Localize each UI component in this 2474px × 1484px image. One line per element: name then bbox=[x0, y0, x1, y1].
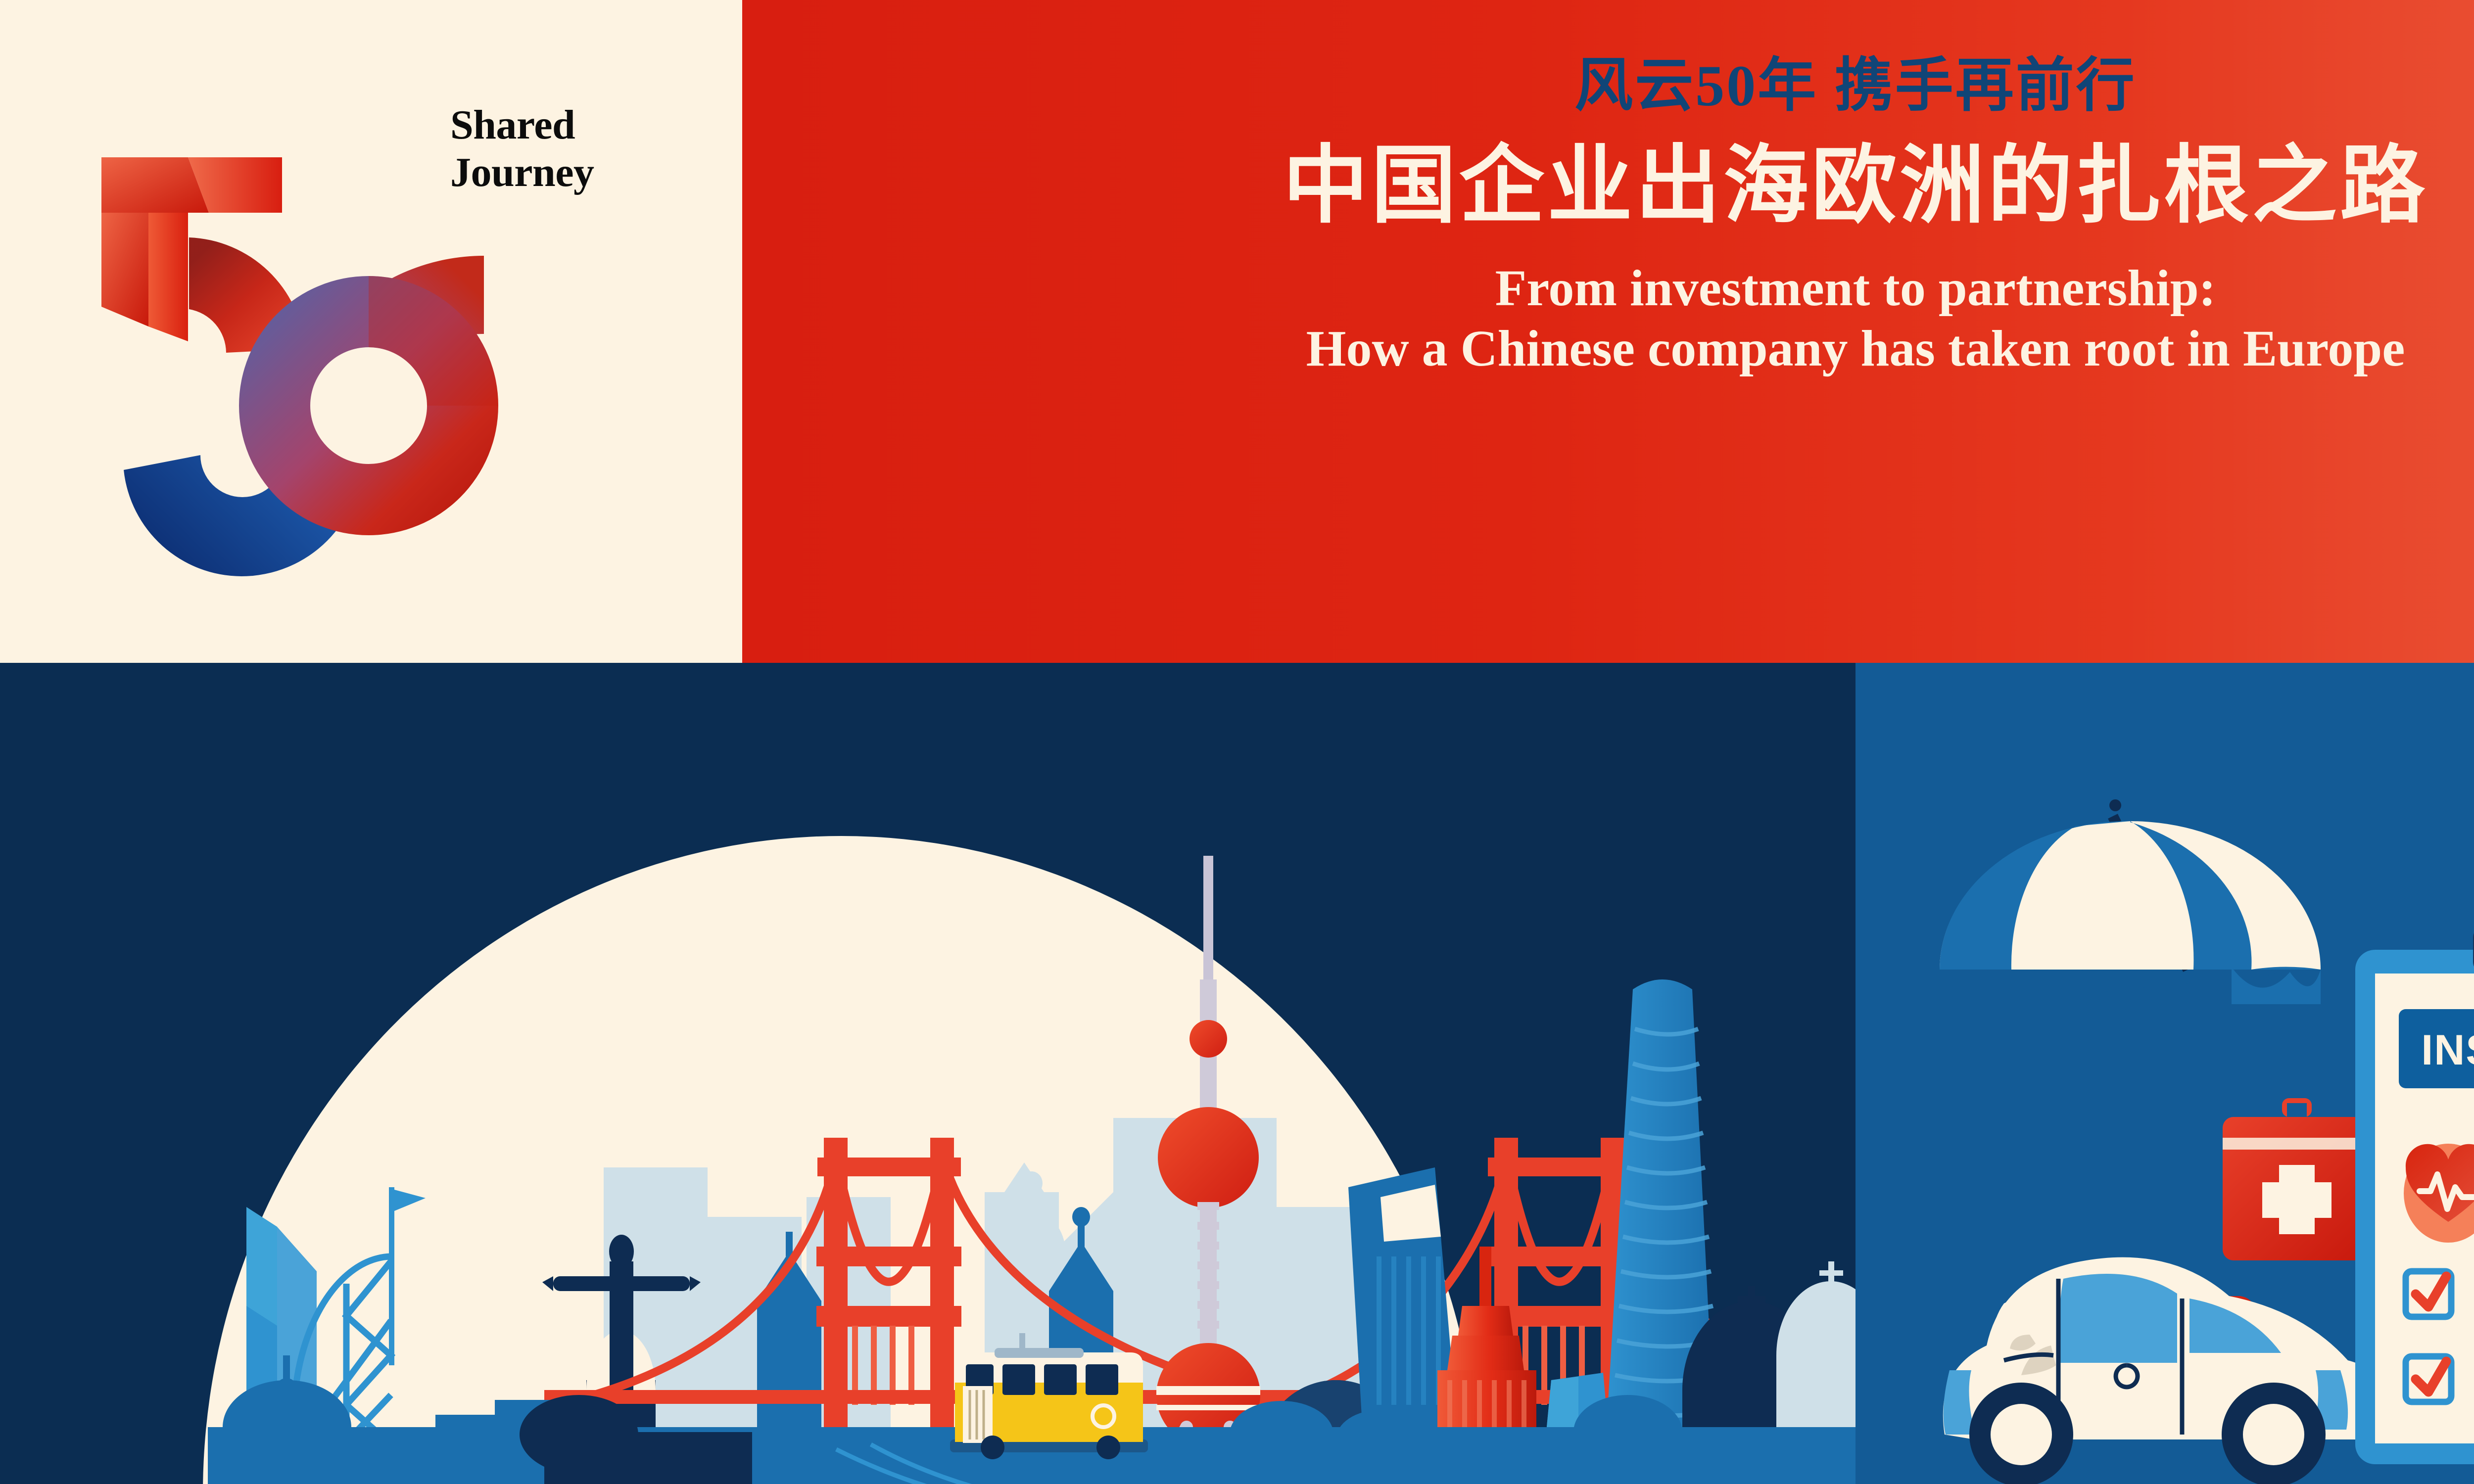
chinese-kicker: 风云50年 携手再前行 bbox=[1574, 57, 2137, 115]
insurance-illustration-panel: *** bbox=[1855, 663, 2474, 1484]
logo-wordmark: Shared Journey bbox=[450, 101, 658, 196]
brand-logo: Shared Journey bbox=[74, 30, 648, 613]
clipboard-label: INSURANCE bbox=[2421, 1026, 2474, 1074]
english-subtitle-line-1: From investment to partnership: bbox=[1495, 260, 2216, 317]
title-stack: 风云50年 携手再前行 中国企业出海欧洲的扎根之路 From investmen… bbox=[742, 0, 2474, 663]
shared-journey-50-logo-icon bbox=[74, 94, 500, 594]
clipboard-policy: INSURANCE bbox=[2355, 883, 2474, 1464]
poster-banner: Shared Journey 风云50年 携手再前行 中国企业出海欧洲的扎根之路… bbox=[0, 0, 2474, 1484]
chinese-headline: 中国企业出海欧洲的扎根之路 bbox=[1283, 144, 2428, 229]
world-landmarks-skyline-icon bbox=[0, 663, 1855, 1484]
english-subtitle-line-2: How a Chinese company has taken root in … bbox=[1306, 320, 2405, 377]
insurance-scene-icon: *** bbox=[1855, 663, 2474, 1484]
logo-line-2: Journey bbox=[450, 149, 658, 196]
logo-panel: Shared Journey bbox=[0, 0, 742, 663]
city-illustration-panel bbox=[0, 663, 1855, 1484]
header-bar: Shared Journey 风云50年 携手再前行 中国企业出海欧洲的扎根之路… bbox=[0, 0, 2474, 663]
logo-line-1: Shared bbox=[450, 101, 658, 149]
first-aid-kit bbox=[2223, 1098, 2371, 1260]
